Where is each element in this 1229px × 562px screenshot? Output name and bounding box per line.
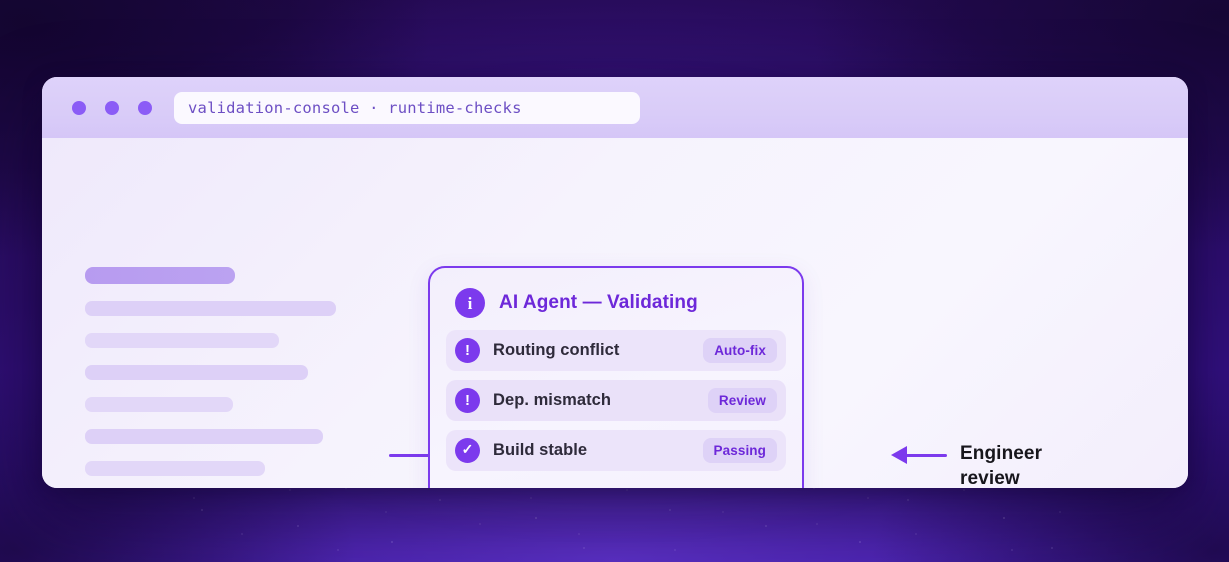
check-row-label: Dep. mismatch [493, 391, 695, 410]
engineer-review-line-1: Engineer [960, 441, 1042, 466]
close-dot-icon[interactable] [72, 101, 86, 115]
check-row-label: Routing conflict [493, 341, 690, 360]
check-row-build-stable[interactable]: ✓ Build stable Passing [446, 430, 786, 471]
skeleton-bar [85, 429, 323, 444]
status-badge[interactable]: Review [708, 388, 777, 413]
check-row-routing-conflict[interactable]: ! Routing conflict Auto-fix [446, 330, 786, 371]
window-titlebar: validation-console · runtime-checks [42, 77, 1188, 138]
maximize-dot-icon[interactable] [138, 101, 152, 115]
status-badge[interactable]: Auto-fix [703, 338, 777, 363]
check-icon: ✓ [455, 438, 480, 463]
skeleton-bar [85, 461, 265, 476]
traffic-light-group [72, 101, 152, 115]
skeleton-bar [85, 267, 235, 284]
window-body: i AI Agent — Validating ! Routing confli… [42, 138, 1188, 488]
agent-card-title: AI Agent — Validating [499, 292, 698, 314]
agent-card-header: i AI Agent — Validating [446, 286, 786, 318]
agent-validation-card: i AI Agent — Validating ! Routing confli… [428, 266, 804, 488]
browser-window: validation-console · runtime-checks i [42, 77, 1188, 488]
minimize-dot-icon[interactable] [105, 101, 119, 115]
warning-icon: ! [455, 338, 480, 363]
skeleton-bar [85, 397, 233, 412]
status-badge[interactable]: Passing [703, 438, 777, 463]
address-bar-input[interactable]: validation-console · runtime-checks [174, 92, 640, 124]
skeleton-bar [85, 365, 308, 380]
skeleton-bar [85, 301, 336, 316]
particle-field-secondary [180, 476, 1079, 562]
info-icon: i [455, 288, 485, 318]
engineer-review-line-2: review [960, 466, 1042, 488]
warning-icon: ! [455, 388, 480, 413]
check-row-dep-mismatch[interactable]: ! Dep. mismatch Review [446, 380, 786, 421]
check-row-label: Build stable [493, 441, 690, 460]
skeleton-bar [85, 333, 279, 348]
content-skeleton [85, 267, 336, 488]
engineer-review-annotation: Engineer review [960, 441, 1042, 488]
screenshot-stage: validation-console · runtime-checks i [0, 0, 1229, 562]
